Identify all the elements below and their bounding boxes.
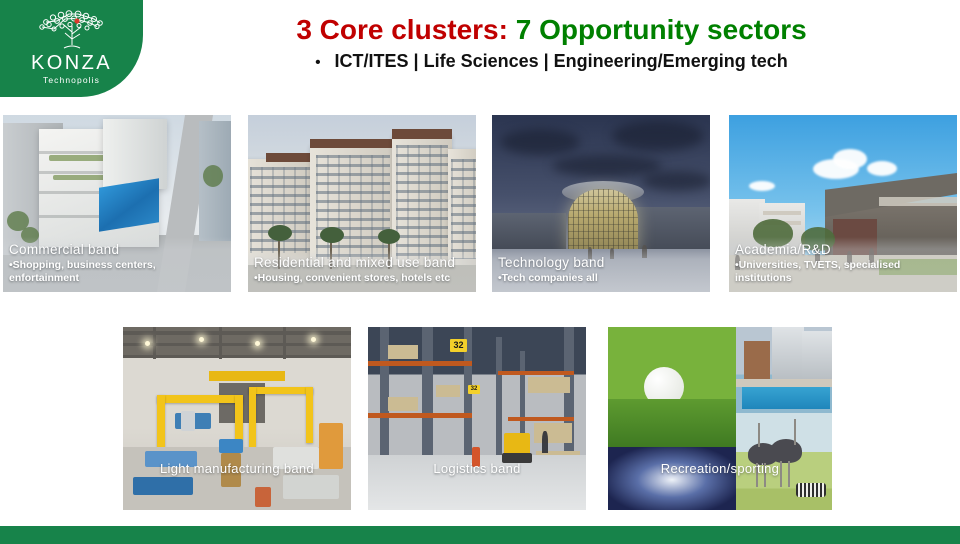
slide-subtitle: •ICT/ITES | Life Sciences | Engineering/… [143, 51, 960, 72]
caption-title: Commercial band [9, 242, 225, 258]
slide-header: 3 Core clusters: 7 Opportunity sectors •… [143, 14, 960, 72]
panel-technology[interactable]: Technology band •Tech companies all [492, 115, 710, 292]
caption-title: Logistics band [374, 461, 580, 477]
caption-subtitle: •Tech companies all [498, 272, 704, 285]
title-part-clusters: 3 Core clusters: [296, 14, 508, 45]
logo-wordmark: KONZA [0, 53, 143, 74]
logo-tagline: Technopolis [0, 75, 143, 85]
caption-academia: Academia/R&D •Universities, TVETS, speci… [729, 237, 957, 292]
caption-subtitle: •Shopping, business centers, enfortainme… [9, 259, 225, 285]
golf-tee-photo [608, 327, 736, 447]
caption-subtitle: •Universities, TVETS, specialised instit… [735, 259, 951, 285]
caption-title: Residential and mixed use band [254, 255, 470, 271]
caption-logistics: Logistics band [368, 456, 586, 484]
panel-residential[interactable]: Residential and mixed use band •Housing,… [248, 115, 476, 292]
footer-bar [0, 526, 960, 544]
caption-manufacturing: Light manufacturing band [123, 456, 351, 484]
aisle-number-sign-secondary: 32 [468, 385, 480, 394]
caption-residential: Residential and mixed use band •Housing,… [248, 250, 476, 292]
title-part-sectors: 7 Opportunity sectors [516, 14, 807, 45]
konza-logo: KONZA Technopolis [0, 8, 143, 85]
brand-header-block: KONZA Technopolis [0, 0, 143, 97]
aisle-number-sign: 32 [450, 339, 467, 352]
caption-title: Recreation/sporting [614, 461, 826, 477]
caption-title: Technology band [498, 255, 704, 271]
caption-subtitle: •Housing, convenient stores, hotels etc [254, 272, 470, 285]
caption-title: Academia/R&D [735, 242, 951, 258]
acacia-tree-icon [24, 8, 120, 52]
caption-commercial: Commercial band •Shopping, business cent… [3, 237, 231, 292]
caption-title: Light manufacturing band [129, 461, 345, 477]
panel-logistics[interactable]: 32 32 Logistics band [368, 327, 586, 510]
panel-recreation[interactable]: Recreation/sporting [608, 327, 832, 510]
subtitle-text: ICT/ITES | Life Sciences | Engineering/E… [335, 51, 788, 71]
panel-manufacturing[interactable]: Light manufacturing band [123, 327, 351, 510]
panel-academia[interactable]: Academia/R&D •Universities, TVETS, speci… [729, 115, 957, 292]
panel-commercial[interactable]: Commercial band •Shopping, business cent… [3, 115, 231, 292]
caption-recreation: Recreation/sporting [608, 456, 832, 484]
hotel-pool-photo [736, 327, 832, 413]
page-title: 3 Core clusters: 7 Opportunity sectors [143, 14, 960, 45]
caption-technology: Technology band •Tech companies all [492, 250, 710, 292]
bullet-icon: • [315, 54, 320, 71]
